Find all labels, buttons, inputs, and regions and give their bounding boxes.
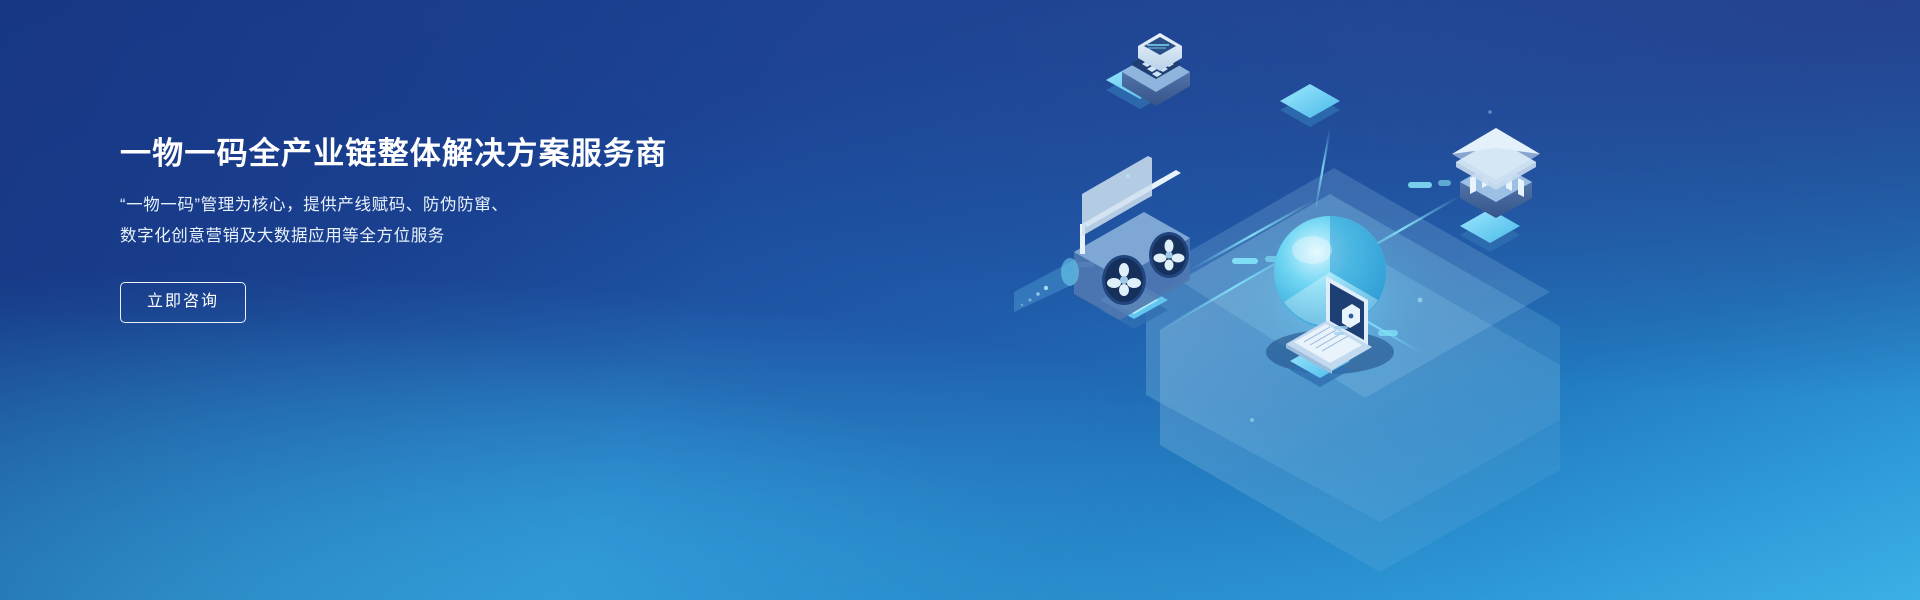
page-title: 一物一码全产业链整体解决方案服务商 — [120, 132, 820, 176]
bank-building-icon — [1452, 128, 1540, 218]
hero-copy: 一物一码全产业链整体解决方案服务商 “一物一码”管理为核心，提供产线赋码、防伪防… — [120, 132, 820, 323]
scanner-beam — [1014, 258, 1079, 312]
hero-subtitle-line-2: 数字化创意营销及大数据应用等全方位服务 — [120, 221, 820, 252]
hero-illustration — [860, 0, 1560, 600]
hero-subtitle-line-1: “一物一码”管理为核心，提供产线赋码、防伪防窜、 — [120, 190, 820, 221]
hero-banner: 一物一码全产业链整体解决方案服务商 “一物一码”管理为核心，提供产线赋码、防伪防… — [0, 0, 1920, 600]
consult-now-button[interactable]: 立即咨询 — [120, 282, 246, 323]
